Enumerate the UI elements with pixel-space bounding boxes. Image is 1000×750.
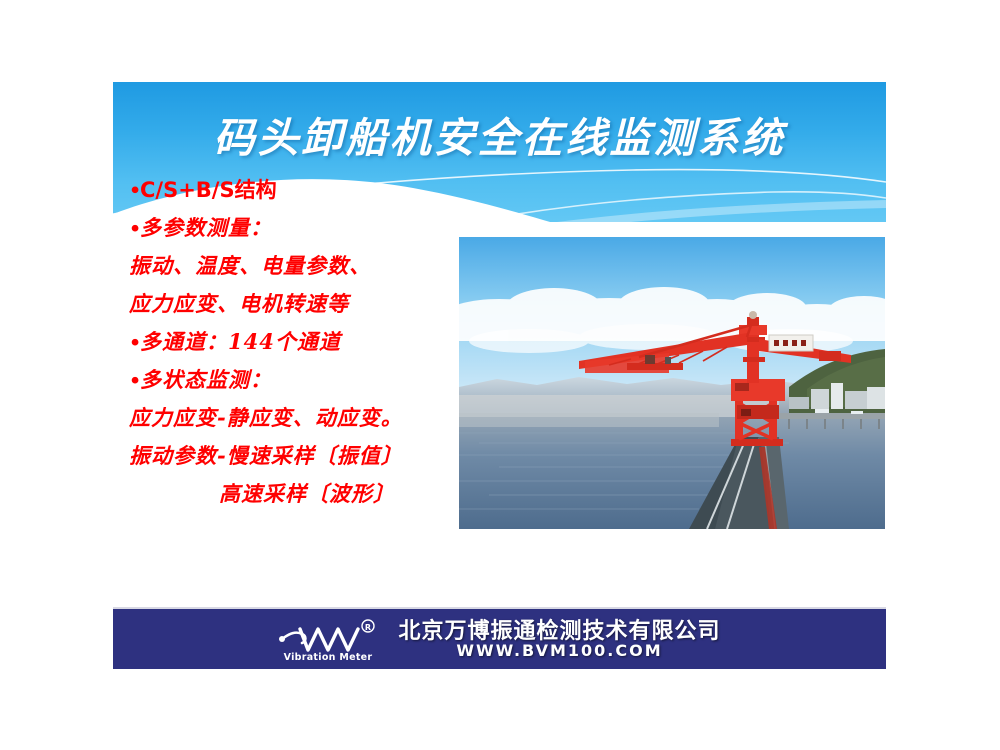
vibration-meter-logo-icon: R Vibration Meter [278, 617, 386, 663]
bullet-line: 多参数测量： [129, 209, 489, 247]
footer-bar: R Vibration Meter 北京万博振通检测技术有限公司 WWW.BVM… [113, 607, 886, 669]
bullet-line: 应力应变-静应变、动应变。 [129, 399, 489, 437]
bullet-line: 多状态监测： [129, 361, 489, 399]
svg-text:R: R [365, 623, 371, 632]
bullet-line: 高速采样〔波形〕 [129, 475, 489, 513]
dock-unloader-photo [459, 237, 885, 529]
bullet-line: 振动参数-慢速采样〔振值〕 [129, 437, 489, 475]
page-title: 码头卸船机安全在线监测系统 [113, 104, 886, 164]
svg-text:Vibration Meter: Vibration Meter [284, 652, 373, 663]
company-website-url: WWW.BVM100.COM [456, 643, 662, 660]
bullet-line: 多通道：144个通道 [129, 323, 489, 361]
footer-company-block: 北京万博振通检测技术有限公司 WWW.BVM100.COM [398, 620, 720, 660]
bullet-line: 应力应变、电机转速等 [129, 285, 489, 323]
bullet-list: C/S+B/S结构 多参数测量： 振动、温度、电量参数、 应力应变、电机转速等 … [129, 171, 489, 513]
company-name-cn: 北京万博振通检测技术有限公司 [398, 620, 720, 643]
bullet-line: 振动、温度、电量参数、 [129, 247, 489, 285]
bullet-line: C/S+B/S结构 [129, 171, 489, 209]
presentation-slide: 码头卸船机安全在线监测系统 C/S+B/S结构 多参数测量： 振动、温度、电量参… [113, 82, 886, 669]
